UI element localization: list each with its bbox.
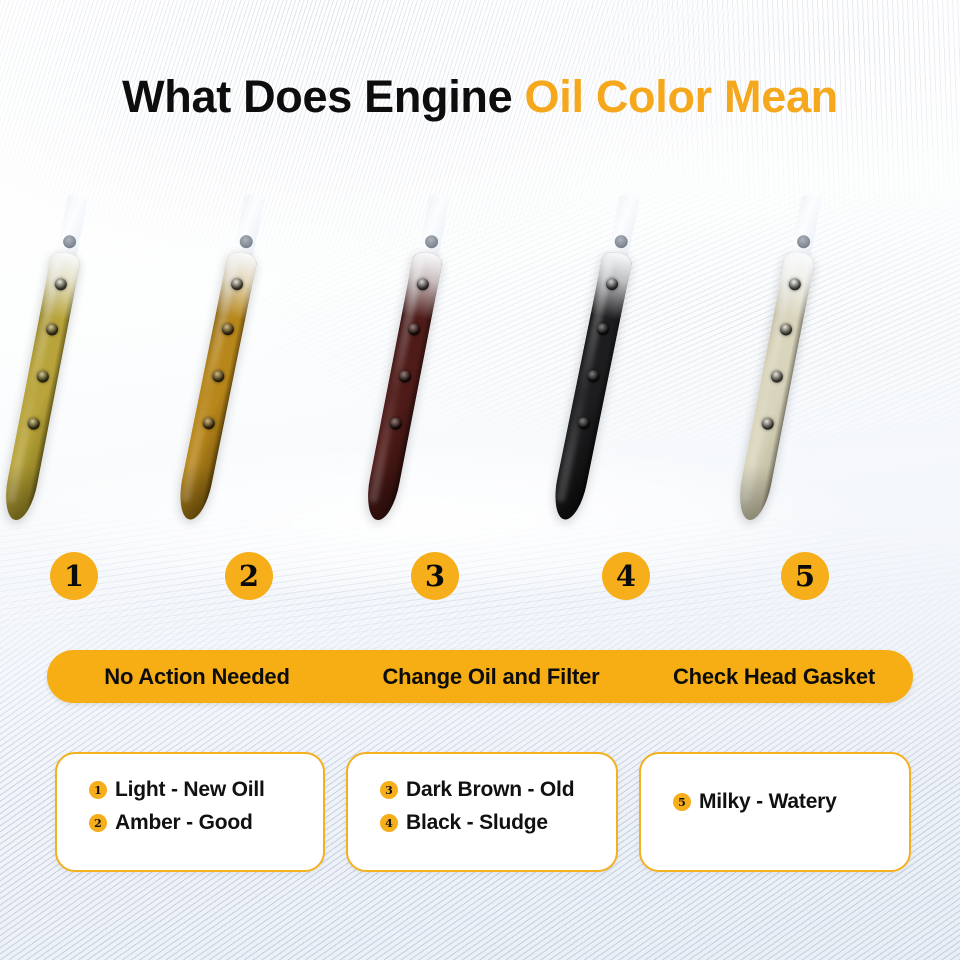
action-change-oil-filter: Change Oil and Filter <box>347 664 635 690</box>
number-badge-2: 2 <box>225 552 273 600</box>
dipstick-4 <box>570 196 690 546</box>
infographic-poster: What Does Engine Oil Color Mean <box>0 0 960 960</box>
number-badge-4: 4 <box>602 552 650 600</box>
mini-badge-5: 5 <box>673 793 691 811</box>
dipstick-5 <box>752 196 872 546</box>
page-title-dark: What Does Engine <box>122 71 512 122</box>
dipstick-blade-5 <box>734 250 815 523</box>
mini-badge-4: 4 <box>380 814 398 832</box>
action-check-head-gasket: Check Head Gasket <box>635 664 913 690</box>
dipstick-blade-4 <box>550 250 634 523</box>
legend-card-3: 5 Milky - Watery <box>639 752 911 872</box>
legend-label-black-sludge: Black - Sludge <box>406 811 548 835</box>
legend-card-2: 3 Dark Brown - Old 4 Black - Sludge <box>346 752 618 872</box>
legend-label-milky-watery: Milky - Watery <box>699 790 837 814</box>
legend-item: 2 Amber - Good <box>89 811 323 835</box>
action-no-action-needed: No Action Needed <box>47 664 347 690</box>
dipstick-blade-3 <box>362 250 443 523</box>
legend-label-light-new-oil: Light - New Oill <box>115 778 265 802</box>
number-badge-5: 5 <box>781 552 829 600</box>
mini-badge-1: 1 <box>89 781 107 799</box>
dipstick-tip-5 <box>734 462 774 523</box>
legend-label-amber-good: Amber - Good <box>115 811 253 835</box>
dipstick-row <box>0 196 960 546</box>
number-badge-1: 1 <box>50 552 98 600</box>
dipstick-blade-1 <box>0 250 81 523</box>
number-badge-row: 1 2 3 4 5 <box>0 552 960 604</box>
mini-badge-2: 2 <box>89 814 107 832</box>
legend-item: 4 Black - Sludge <box>380 811 616 835</box>
number-badge-3: 3 <box>411 552 459 600</box>
dipstick-2 <box>195 196 315 546</box>
dipstick-3 <box>380 196 500 546</box>
dipstick-tip-3 <box>362 462 402 523</box>
page-title: What Does Engine Oil Color Mean <box>0 72 960 122</box>
legend-item: 5 Milky - Watery <box>673 790 909 814</box>
legend-item: 1 Light - New Oill <box>89 778 323 802</box>
action-bar: No Action Needed Change Oil and Filter C… <box>47 650 913 703</box>
dipstick-tip-4 <box>550 462 591 523</box>
legend-item: 3 Dark Brown - Old <box>380 778 616 802</box>
mini-badge-3: 3 <box>380 781 398 799</box>
dipstick-tip-2 <box>175 462 216 523</box>
dipstick-1 <box>18 196 138 546</box>
legend-card-1: 1 Light - New Oill 2 Amber - Good <box>55 752 325 872</box>
legend-card-row: 1 Light - New Oill 2 Amber - Good 3 Dark… <box>55 752 911 872</box>
dipstick-blade-2 <box>175 250 259 523</box>
page-title-accent: Oil Color Mean <box>512 71 838 122</box>
legend-label-dark-brown-old: Dark Brown - Old <box>406 778 574 802</box>
dipstick-tip-1 <box>0 462 40 523</box>
